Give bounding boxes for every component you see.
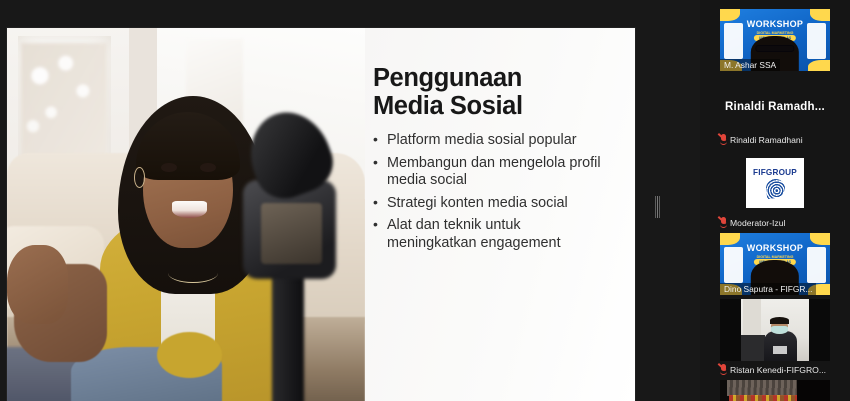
woman-hand: [7, 245, 68, 325]
fifgroup-logo-text: FIFGROUP: [753, 168, 797, 177]
sidebar-resize-grip[interactable]: [655, 196, 661, 218]
participant-name: Rinaldi Ramadhani: [730, 135, 803, 145]
woman-smile: [172, 201, 208, 218]
banner-corner-yellow: [808, 60, 830, 71]
masked-person-video: [720, 299, 830, 361]
participant-tile-rinaldi-ramadhani[interactable]: Rinaldi Ramadh...: [700, 83, 850, 131]
microphone-muted-icon: [720, 217, 727, 228]
slide-bullet: Alat dan teknik untuk meningkatkan engag…: [373, 217, 613, 252]
shop-roof: [727, 380, 802, 396]
fifgroup-logo-mark-icon: [764, 178, 785, 199]
face-mask: [771, 326, 789, 334]
participant-label-rinaldi-ramadhani: Rinaldi Ramadhani: [720, 133, 830, 146]
banner-title: WORKSHOP: [720, 243, 830, 253]
slide-title-line1: Penggunaan: [373, 64, 522, 92]
camera-screen: [261, 203, 322, 264]
presentation-slide[interactable]: Penggunaan Media Sosial Platform media s…: [7, 28, 635, 401]
participant-name-overlay: M. Ashar SSA: [720, 59, 780, 71]
participant-tile-ristan-kenedi[interactable]: [720, 299, 830, 361]
participant-name: Moderator-Izul: [730, 218, 785, 228]
slide-bullet: Membangun dan mengelola profil media soc…: [373, 155, 613, 190]
participant-label-ristan-kenedi: Ristan Kenedi-FIFGRO...: [720, 363, 830, 376]
participant-tile-dino-saputra[interactable]: DIGITAL MARKETING WORKSHOP UMKM NAIK KEL…: [720, 233, 830, 295]
video-conference-window: Penggunaan Media Sosial Platform media s…: [0, 0, 850, 401]
banner-title: WORKSHOP: [720, 19, 830, 29]
participant-video[interactable]: [720, 380, 830, 401]
participant-video[interactable]: FIFGROUP: [720, 152, 830, 214]
slide-bullet: Strategi konten media social: [373, 195, 613, 213]
slide-title: Penggunaan Media Sosial: [373, 64, 613, 120]
shirt-print: [773, 346, 787, 353]
slide-photo: [7, 28, 365, 401]
slide-title-line2: Media Sosial: [373, 92, 523, 120]
slide-text-panel: Penggunaan Media Sosial Platform media s…: [365, 28, 635, 401]
woman-necklace: [168, 263, 218, 283]
participant-name-large: Rinaldi Ramadh...: [725, 101, 825, 113]
shop-shelves: [729, 395, 797, 401]
slide-bullet: Platform media sosial popular: [373, 132, 613, 150]
participant-name: Ristan Kenedi-FIFGRO...: [730, 365, 826, 375]
fifgroup-logo-background: FIFGROUP: [720, 152, 830, 214]
participant-video[interactable]: DIGITAL MARKETING WORKSHOP UMKM NAIK KEL…: [720, 9, 830, 71]
microphone-muted-icon: [720, 134, 727, 145]
participant-video[interactable]: DIGITAL MARKETING WORKSHOP UMKM NAIK KEL…: [720, 233, 830, 295]
participant-tile-umkm-solahudin[interactable]: [720, 380, 830, 401]
shared-screen-area[interactable]: Penggunaan Media Sosial Platform media s…: [0, 0, 700, 401]
slide-bullet-list: Platform media sosial popular Membangun …: [373, 132, 613, 252]
dark-foreground: [797, 380, 830, 401]
person-hair: [770, 317, 790, 324]
participant-tile-moderator-izul[interactable]: FIFGROUP: [720, 152, 830, 214]
participant-label-moderator-izul: Moderator-Izul: [720, 216, 830, 229]
participant-tile-m-ashar-ssa[interactable]: DIGITAL MARKETING WORKSHOP UMKM NAIK KEL…: [720, 9, 830, 71]
fifgroup-logo-card: FIFGROUP: [746, 158, 804, 208]
shop-interior-video: [720, 380, 830, 401]
dark-furniture: [741, 335, 765, 361]
woman-shirt-knot: [157, 332, 221, 378]
participant-video[interactable]: [720, 299, 830, 361]
plant-blossoms: [21, 43, 107, 168]
woman-eye-left: [161, 163, 177, 173]
participant-name-overlay: Dino Saputra - FIFGR...: [720, 283, 816, 295]
participant-strip[interactable]: DIGITAL MARKETING WORKSHOP UMKM NAIK KEL…: [700, 0, 850, 401]
woman-earring: [134, 167, 145, 188]
microphone-muted-icon: [720, 364, 727, 375]
eyeglasses: [755, 45, 794, 53]
